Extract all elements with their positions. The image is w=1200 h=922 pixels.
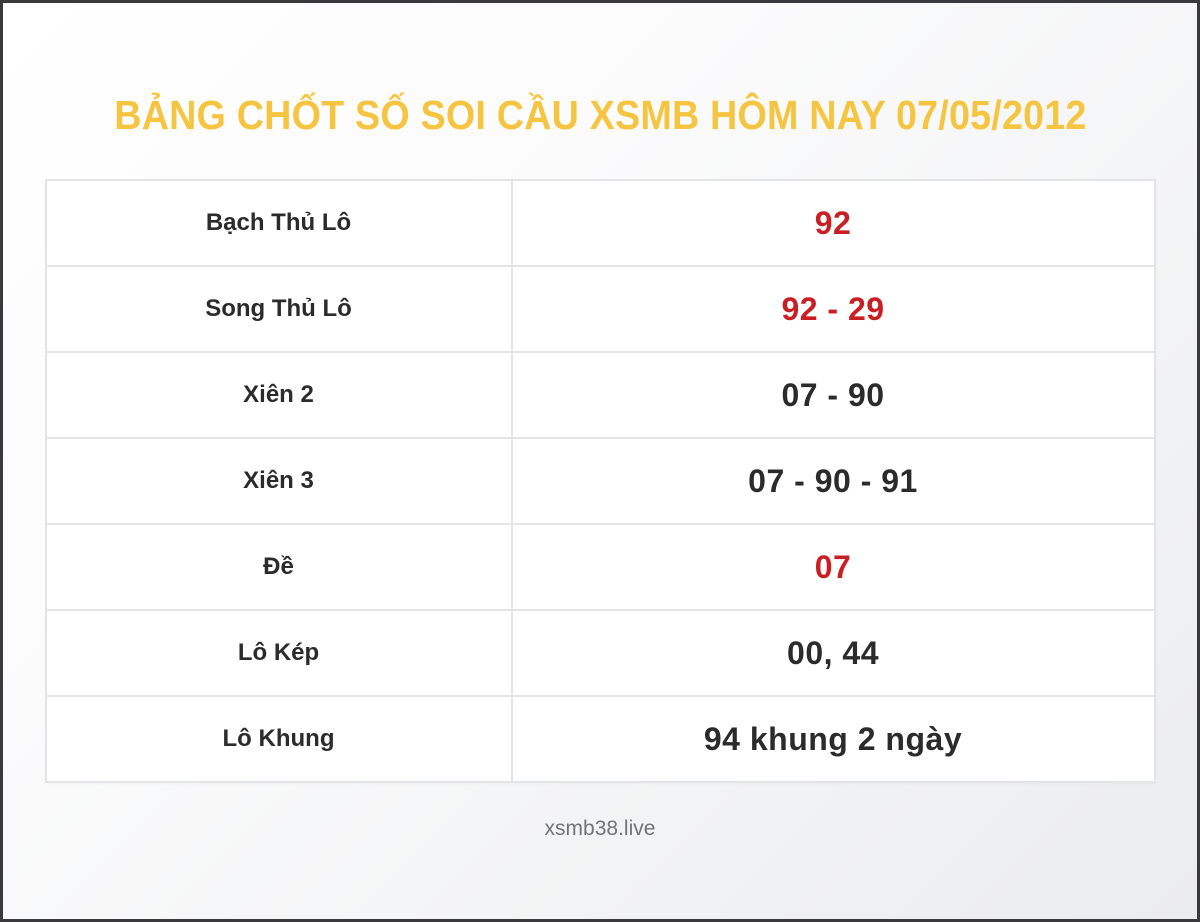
- table-row: Đề07: [46, 524, 1155, 610]
- prediction-table-wrapper: Bạch Thủ Lô92Song Thủ Lô92 - 29Xiên 207 …: [45, 179, 1156, 783]
- site-watermark: xsmb38.live: [545, 817, 656, 841]
- row-label: Xiên 3: [46, 438, 512, 524]
- table-row: Bạch Thủ Lô92: [46, 180, 1155, 266]
- row-value: 92: [512, 180, 1155, 266]
- row-value: 07 - 90: [512, 352, 1155, 438]
- row-label: Lô Khung: [46, 696, 512, 782]
- row-label: Xiên 2: [46, 352, 512, 438]
- row-value: 92 - 29: [512, 266, 1155, 352]
- table-row: Lô Khung94 khung 2 ngày: [46, 696, 1155, 782]
- table-row: Xiên 207 - 90: [46, 352, 1155, 438]
- row-label: Song Thủ Lô: [46, 266, 512, 352]
- row-value: 07 - 90 - 91: [512, 438, 1155, 524]
- row-label: Đề: [46, 524, 512, 610]
- row-label: Lô Kép: [46, 610, 512, 696]
- prediction-table-body: Bạch Thủ Lô92Song Thủ Lô92 - 29Xiên 207 …: [46, 180, 1155, 782]
- row-value: 07: [512, 524, 1155, 610]
- page-title: BẢNG CHỐT SỐ SOI CẦU XSMB HÔM NAY 07/05/…: [114, 95, 1086, 136]
- prediction-table: Bạch Thủ Lô92Song Thủ Lô92 - 29Xiên 207 …: [45, 179, 1156, 783]
- lottery-prediction-card: BẢNG CHỐT SỐ SOI CẦU XSMB HÔM NAY 07/05/…: [0, 0, 1200, 922]
- row-value: 94 khung 2 ngày: [512, 696, 1155, 782]
- table-row: Song Thủ Lô92 - 29: [46, 266, 1155, 352]
- table-row: Xiên 307 - 90 - 91: [46, 438, 1155, 524]
- table-row: Lô Kép00, 44: [46, 610, 1155, 696]
- row-label: Bạch Thủ Lô: [46, 180, 512, 266]
- row-value: 00, 44: [512, 610, 1155, 696]
